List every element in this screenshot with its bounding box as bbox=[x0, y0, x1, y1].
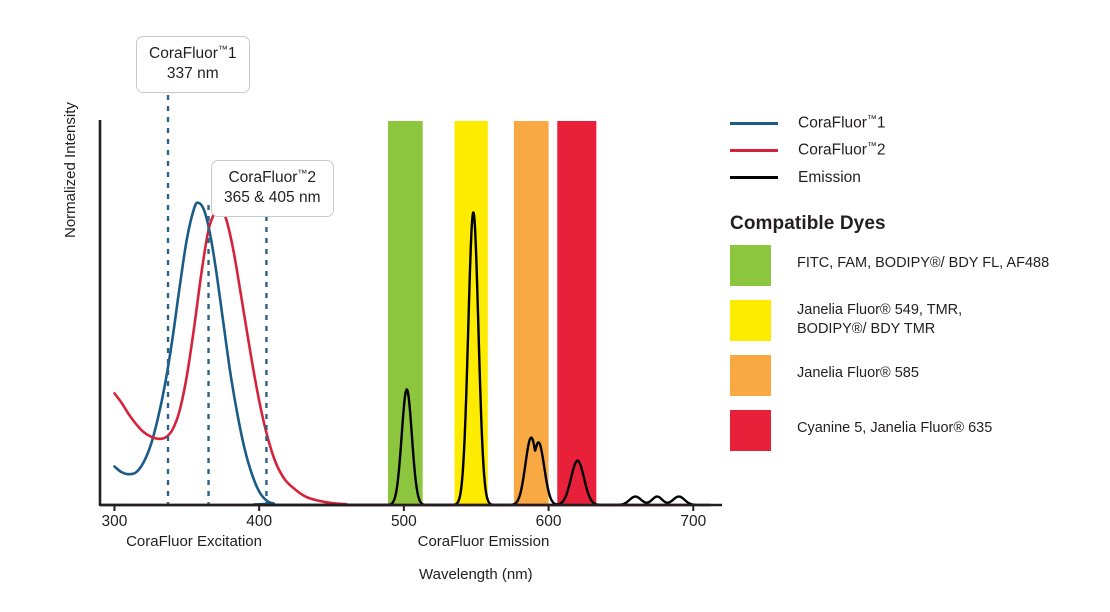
dye-color-swatch bbox=[730, 245, 771, 286]
legend-item-label: CoraFluor™1 bbox=[798, 114, 886, 133]
dye-label: Janelia Fluor® 585 bbox=[797, 355, 919, 383]
callout-corafluor2: CoraFluor™2 365 & 405 nm bbox=[211, 160, 334, 217]
trademark-symbol: ™ bbox=[297, 169, 307, 180]
legend: CoraFluor™1CoraFluor™2Emission Compatibl… bbox=[730, 110, 1090, 465]
callout-corafluor2-line2: 365 & 405 nm bbox=[224, 188, 321, 208]
dye-label: Janelia Fluor® 549, TMR,BODIPY®/ BDY TMR bbox=[797, 300, 962, 339]
callout-corafluor2-line1: CoraFluor™2 bbox=[224, 168, 321, 188]
dye-row-2: Janelia Fluor® 585 bbox=[730, 355, 1090, 396]
legend-item-label: Emission bbox=[798, 169, 861, 187]
dye-label: FITC, FAM, BODIPY®/ BDY FL, AF488 bbox=[797, 245, 1049, 273]
legend-series-list: CoraFluor™1CoraFluor™2Emission bbox=[730, 110, 1090, 191]
compatible-dyes-list: FITC, FAM, BODIPY®/ BDY FL, AF488Janelia… bbox=[730, 245, 1090, 451]
x-axis-tick-label-600: 600 bbox=[536, 513, 562, 531]
dye-color-swatch bbox=[730, 410, 771, 451]
dye-label: Cyanine 5, Janelia Fluor® 635 bbox=[797, 410, 992, 438]
y-axis-title: Normalized Intensity bbox=[62, 102, 79, 238]
trademark-symbol: ™ bbox=[218, 45, 228, 56]
dye-row-3: Cyanine 5, Janelia Fluor® 635 bbox=[730, 410, 1090, 451]
orange-band bbox=[514, 121, 549, 505]
excitation-region-label: CoraFluor Excitation bbox=[126, 533, 262, 550]
compatible-dyes-heading: Compatible Dyes bbox=[730, 213, 1090, 235]
legend-item-2: Emission bbox=[730, 164, 1090, 191]
red-band bbox=[557, 121, 596, 505]
x-axis-title: Wavelength (nm) bbox=[419, 566, 533, 583]
x-axis-tick-label-300: 300 bbox=[102, 513, 128, 531]
legend-line-swatch bbox=[730, 122, 778, 125]
callout-corafluor1-line1: CoraFluor™1 bbox=[149, 44, 237, 64]
fluorescence-spectra-figure: CoraFluor™1 337 nm CoraFluor™2 365 & 405… bbox=[0, 0, 1110, 612]
legend-item-0: CoraFluor™1 bbox=[730, 110, 1090, 137]
legend-item-1: CoraFluor™2 bbox=[730, 137, 1090, 164]
dye-row-0: FITC, FAM, BODIPY®/ BDY FL, AF488 bbox=[730, 245, 1090, 286]
legend-line-swatch bbox=[730, 176, 778, 179]
x-axis-tick-label-700: 700 bbox=[680, 513, 706, 531]
dye-color-swatch bbox=[730, 300, 771, 341]
x-axis-tick-label-500: 500 bbox=[391, 513, 417, 531]
callout-corafluor1-line2: 337 nm bbox=[149, 64, 237, 84]
emission-region-label: CoraFluor Emission bbox=[418, 533, 550, 550]
callout-corafluor1: CoraFluor™1 337 nm bbox=[136, 36, 250, 93]
dye-color-swatch bbox=[730, 355, 771, 396]
legend-item-label: CoraFluor™2 bbox=[798, 141, 886, 160]
legend-line-swatch bbox=[730, 149, 778, 152]
dye-row-1: Janelia Fluor® 549, TMR,BODIPY®/ BDY TMR bbox=[730, 300, 1090, 341]
trademark-symbol: ™ bbox=[867, 114, 877, 125]
green-band bbox=[388, 121, 423, 505]
x-axis-tick-label-400: 400 bbox=[246, 513, 272, 531]
trademark-symbol: ™ bbox=[867, 141, 877, 152]
